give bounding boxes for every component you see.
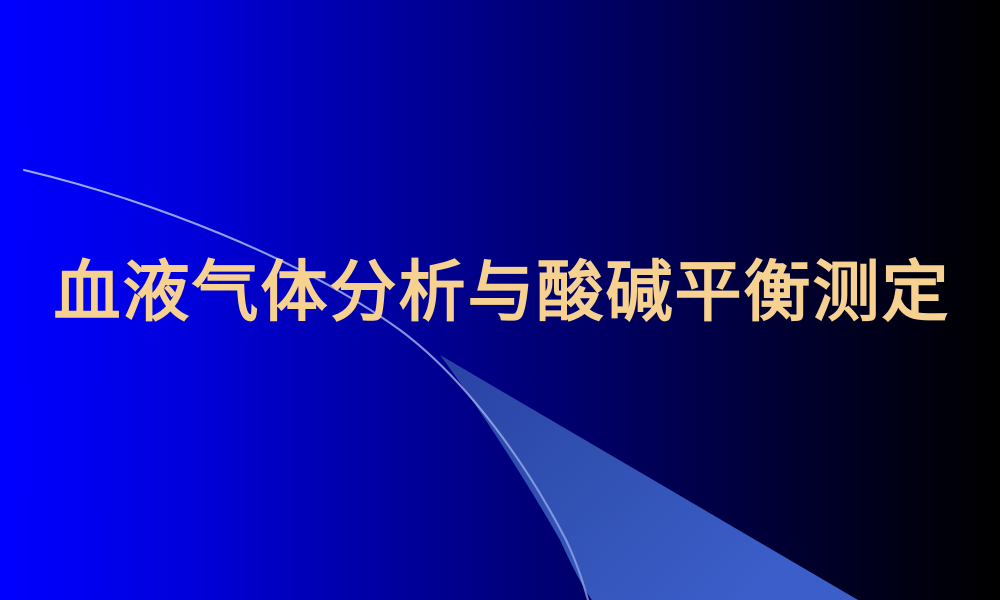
- presentation-slide: 血液气体分析与酸碱平衡测定: [0, 0, 1000, 600]
- thin-light-curve: [24, 170, 588, 600]
- slide-background-artwork: [0, 0, 1000, 600]
- light-blue-wedge: [440, 355, 858, 600]
